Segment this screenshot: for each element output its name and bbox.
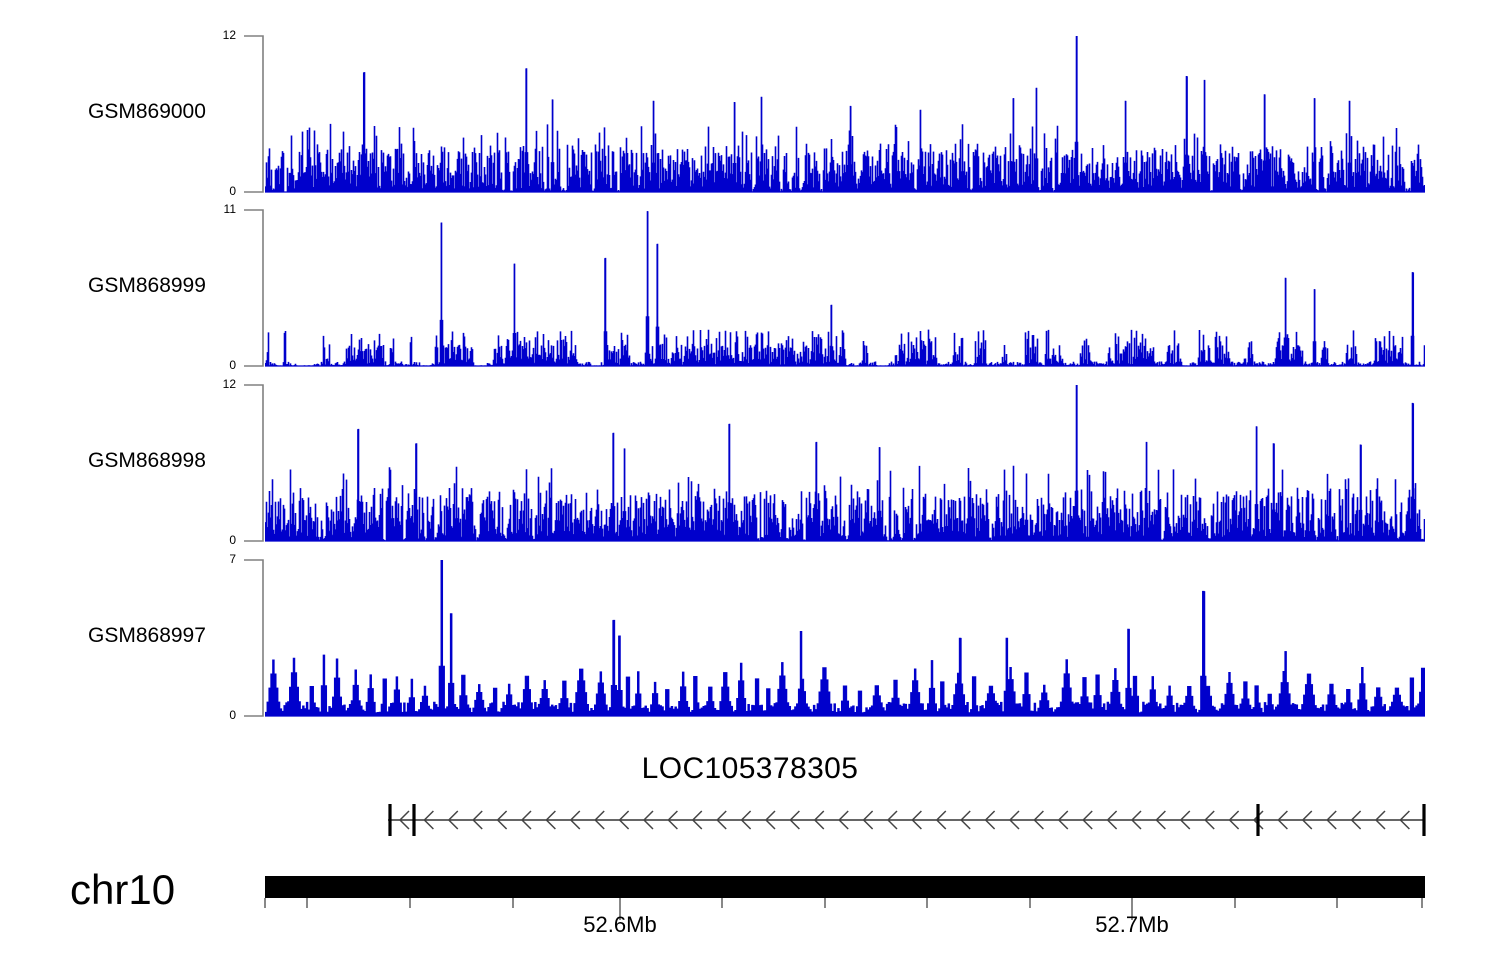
y-axis-bracket (236, 208, 268, 368)
axis-tick-label-right: 52.7Mb (1095, 912, 1168, 938)
coverage-profile[interactable] (265, 36, 1425, 193)
y-axis-bracket (236, 34, 268, 194)
y-axis-bracket (236, 383, 268, 543)
gene-model-svg[interactable] (0, 798, 1500, 842)
y-axis-min-label: 0 (206, 358, 236, 372)
chromosome-axis-svg[interactable] (0, 870, 1500, 930)
y-axis-bracket (236, 558, 268, 718)
coverage-area (265, 36, 1425, 192)
axis-tick-label-left: 52.6Mb (583, 912, 656, 938)
coverage-profile[interactable] (265, 385, 1425, 542)
track-label-gsm869000: GSM869000 (88, 100, 228, 124)
gene-exon-mark[interactable] (1256, 804, 1259, 836)
coverage-area (265, 385, 1425, 541)
chromosome-axis[interactable] (0, 870, 1500, 935)
coverage-profile[interactable] (265, 560, 1425, 717)
gene-model-shape[interactable] (0, 798, 1500, 847)
genome-browser-view: GSM869000120GSM868999110GSM868998120GSM8… (0, 0, 1500, 980)
y-axis-min-label: 0 (206, 708, 236, 722)
ideogram-bar[interactable] (265, 876, 1425, 898)
y-axis-max-label: 12 (206, 377, 236, 391)
y-axis-min-label: 0 (206, 533, 236, 547)
gene-exon-mark[interactable] (412, 804, 415, 836)
y-axis-max-label: 7 (206, 552, 236, 566)
coverage-area (265, 560, 1425, 716)
y-axis-max-label: 11 (206, 202, 236, 216)
track-label-gsm868997: GSM868997 (88, 624, 228, 648)
track-label-gsm868998: GSM868998 (88, 449, 228, 473)
gene-exon-mark[interactable] (388, 804, 391, 836)
track-label-gsm868999: GSM868999 (88, 274, 228, 298)
y-axis-max-label: 12 (206, 28, 236, 42)
gene-exon-mark[interactable] (1422, 804, 1425, 836)
coverage-profile[interactable] (265, 210, 1425, 367)
y-axis-min-label: 0 (206, 184, 236, 198)
gene-annotation-track[interactable]: LOC105378305 (0, 752, 1500, 862)
coverage-area (265, 211, 1425, 366)
gene-name-label: LOC105378305 (0, 752, 1500, 786)
